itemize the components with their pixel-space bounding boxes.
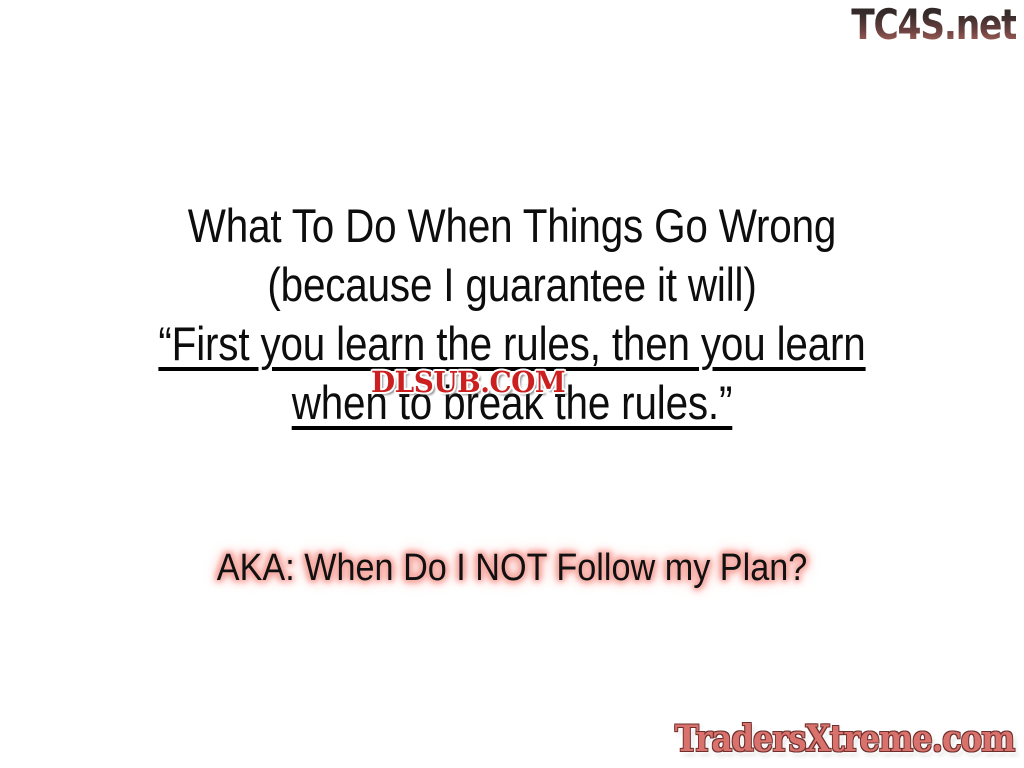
subtitle-aka-text: AKA: When Do I NOT Follow my Plan? <box>217 545 807 591</box>
watermark-tc4s-net: TC4S.net <box>851 2 1016 48</box>
title-line-1: What To Do When Things Go Wrong <box>72 196 953 255</box>
watermark-dlsub-com: DLSUB.COM <box>371 366 565 398</box>
presentation-slide: TC4S.net What To Do When Things Go Wrong… <box>0 0 1024 768</box>
watermark-tradersxtreme-com: TradersXtreme.com <box>674 718 1014 760</box>
title-line-2: (because I guarantee it will) <box>72 255 953 314</box>
slide-subtitle-block: AKA: When Do I NOT Follow my Plan? <box>0 545 1024 591</box>
